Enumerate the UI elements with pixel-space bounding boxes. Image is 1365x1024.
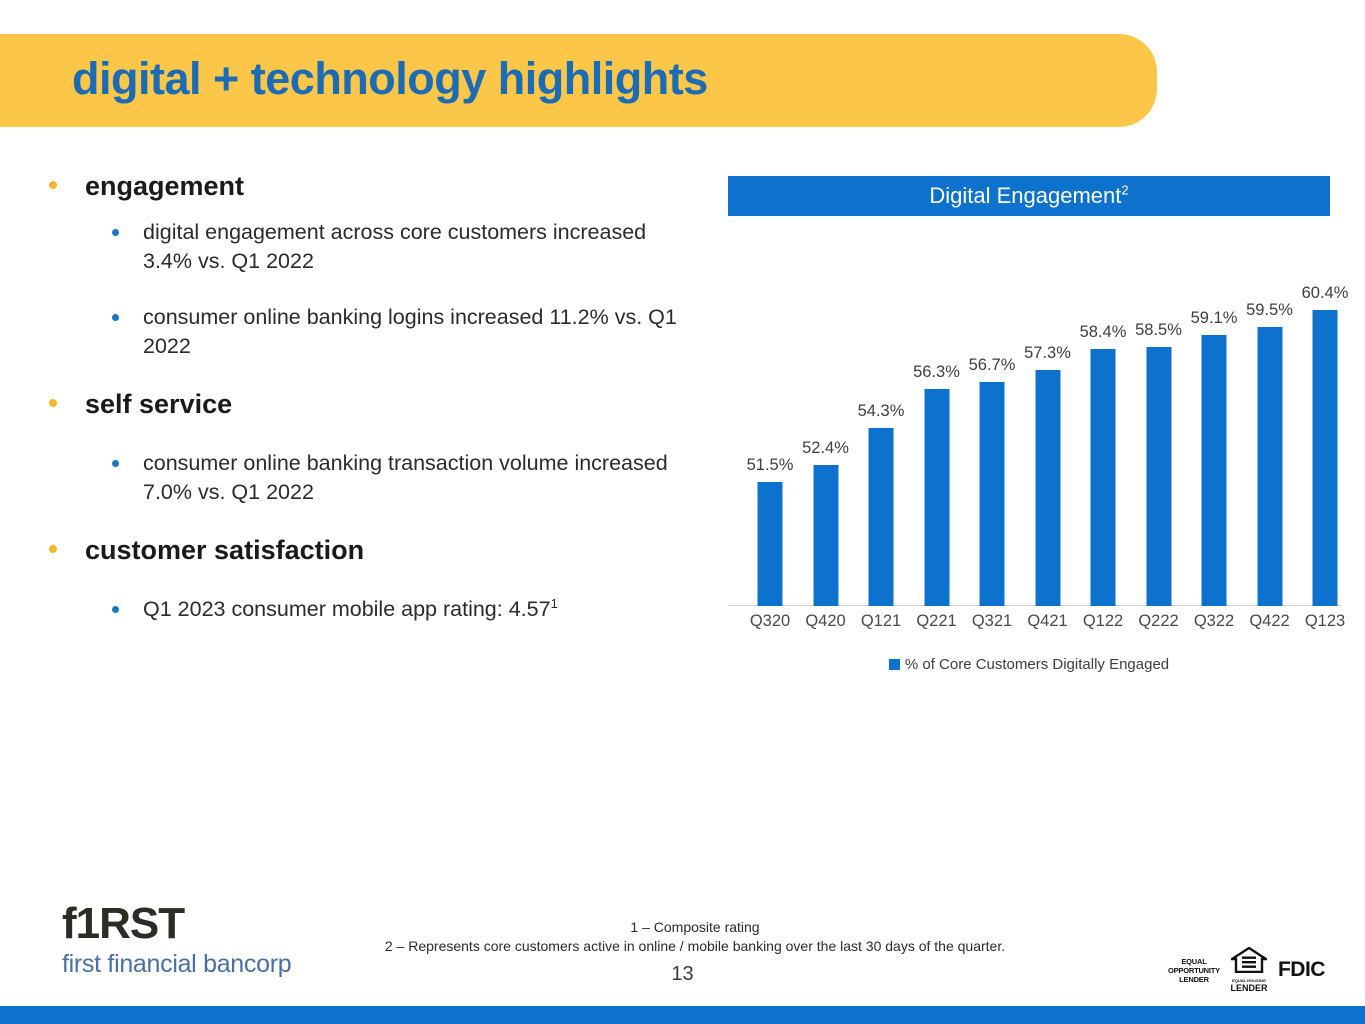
eol-line-1: EQUAL — [1168, 957, 1220, 966]
bar — [1146, 347, 1171, 606]
house-icon — [1231, 947, 1267, 973]
bar-value-label: 56.3% — [913, 363, 960, 382]
compliance-marks: EQUAL OPPORTUNITY LENDER EQUAL HOUSING L… — [1168, 947, 1325, 993]
x-axis-tick-label: Q322 — [1187, 612, 1241, 631]
bar — [1035, 370, 1060, 606]
chart-legend: % of Core Customers Digitally Engaged — [728, 656, 1330, 673]
legend-label: % of Core Customers Digitally Engaged — [905, 656, 1169, 673]
bullet-dot-icon — [49, 545, 57, 553]
bullet-dot-icon — [49, 181, 57, 189]
footnotes: 1 – Composite rating 2 – Represents core… — [300, 918, 1090, 956]
subbullet-digital-engagement: digital engagement across core customers… — [40, 218, 700, 276]
bullet-dot-icon — [49, 399, 57, 407]
x-axis-tick-label: Q222 — [1132, 612, 1186, 631]
bar — [924, 389, 949, 606]
x-axis-tick-label: Q320 — [743, 612, 797, 631]
bar — [813, 465, 838, 606]
subbullet-dot-icon — [112, 460, 119, 467]
x-axis-tick-label: Q420 — [799, 612, 853, 631]
footnote-ref-1: 1 — [551, 596, 558, 611]
subbullet-label: consumer online banking logins increased… — [143, 305, 677, 358]
bar — [758, 482, 783, 606]
ehl-lender-text: LENDER — [1227, 983, 1271, 993]
bar-value-label: 54.3% — [858, 402, 905, 421]
legend-swatch-icon — [889, 659, 900, 670]
digital-engagement-chart: Digital Engagement2 51.5%52.4%54.3%56.3%… — [728, 176, 1330, 681]
bar-slot: 51.5% — [743, 230, 797, 606]
slide: digital + technology highlights engageme… — [0, 0, 1365, 1024]
bar-slot: 56.7% — [965, 230, 1019, 606]
logo-wordmark: f1RST — [62, 900, 312, 948]
bullet-label: self service — [85, 389, 232, 419]
fdic-mark: FDIC — [1278, 958, 1325, 982]
bar-value-label: 60.4% — [1302, 284, 1349, 303]
x-axis-tick-label: Q121 — [854, 612, 908, 631]
bar-slot: 58.4% — [1076, 230, 1130, 606]
bar-value-label: 52.4% — [802, 439, 849, 458]
bullet-engagement: engagement — [40, 168, 700, 204]
equal-opportunity-lender-icon: EQUAL OPPORTUNITY LENDER — [1168, 957, 1220, 984]
x-axis-tick-label: Q122 — [1076, 612, 1130, 631]
bullet-list: engagement digital engagement across cor… — [40, 168, 700, 644]
bar-slot: 52.4% — [799, 230, 853, 606]
bar — [1257, 327, 1282, 606]
chart-plot-area: 51.5%52.4%54.3%56.3%56.7%57.3%58.4%58.5%… — [728, 230, 1330, 606]
footnote-2: 2 – Represents core customers active in … — [300, 937, 1090, 956]
bar-slot: 60.4% — [1298, 230, 1352, 606]
subbullet-mobile-app-rating: Q1 2023 consumer mobile app rating: 4.57… — [40, 595, 700, 624]
subbullet-transaction-volume: consumer online banking transaction volu… — [40, 449, 700, 507]
subbullet-dot-icon — [112, 606, 119, 613]
bar-value-label: 58.4% — [1080, 323, 1127, 342]
bar-slot: 54.3% — [854, 230, 908, 606]
company-logo: f1RST first financial bancorp — [62, 900, 312, 980]
chart-title-band: Digital Engagement2 — [728, 176, 1330, 216]
subbullet-label: digital engagement across core customers… — [143, 220, 646, 273]
bar-value-label: 57.3% — [1024, 344, 1071, 363]
bar-slot: 59.5% — [1243, 230, 1297, 606]
bar-value-label: 58.5% — [1135, 321, 1182, 340]
bottom-accent-bar — [0, 1006, 1365, 1024]
eol-line-2: OPPORTUNITY — [1168, 966, 1220, 975]
bullet-label: customer satisfaction — [85, 535, 364, 565]
bar — [869, 428, 894, 606]
bar — [1091, 349, 1116, 606]
page-title: digital + technology highlights — [72, 48, 708, 110]
bar — [1313, 310, 1338, 606]
bar-slot: 58.5% — [1132, 230, 1186, 606]
x-axis-tick-label: Q321 — [965, 612, 1019, 631]
equal-housing-lender-icon: EQUAL HOUSING LENDER — [1227, 947, 1271, 993]
subbullet-label: consumer online banking transaction volu… — [143, 451, 668, 504]
bar-value-label: 56.7% — [969, 356, 1016, 375]
bar-value-label: 59.1% — [1191, 309, 1238, 328]
bar-value-label: 51.5% — [747, 456, 794, 475]
subbullet-dot-icon — [112, 229, 119, 236]
subbullet-online-logins: consumer online banking logins increased… — [40, 303, 700, 361]
bar-slot: 57.3% — [1021, 230, 1075, 606]
chart-title: Digital Engagement — [929, 183, 1121, 208]
logo-tagline: first financial bancorp — [62, 948, 312, 980]
footnote-1: 1 – Composite rating — [300, 918, 1090, 937]
x-axis-tick-label: Q422 — [1243, 612, 1297, 631]
eol-line-3: LENDER — [1168, 975, 1220, 984]
bullet-customer-satisfaction: customer satisfaction — [40, 532, 700, 568]
x-axis-labels: Q320Q420Q121Q221Q321Q421Q122Q222Q322Q422… — [728, 612, 1341, 638]
footnote-ref-2: 2 — [1121, 183, 1128, 198]
subbullet-dot-icon — [112, 314, 119, 321]
x-axis-tick-label: Q221 — [910, 612, 964, 631]
bar — [1202, 335, 1227, 606]
bullet-self-service: self service — [40, 386, 700, 422]
x-axis-tick-label: Q123 — [1298, 612, 1352, 631]
bar-value-label: 59.5% — [1246, 301, 1293, 320]
bar-slot: 56.3% — [910, 230, 964, 606]
bar-slot: 59.1% — [1187, 230, 1241, 606]
bullet-label: engagement — [85, 171, 244, 201]
x-axis-tick-label: Q421 — [1021, 612, 1075, 631]
subbullet-label: Q1 2023 consumer mobile app rating: 4.57 — [143, 597, 551, 621]
bar — [980, 382, 1005, 606]
